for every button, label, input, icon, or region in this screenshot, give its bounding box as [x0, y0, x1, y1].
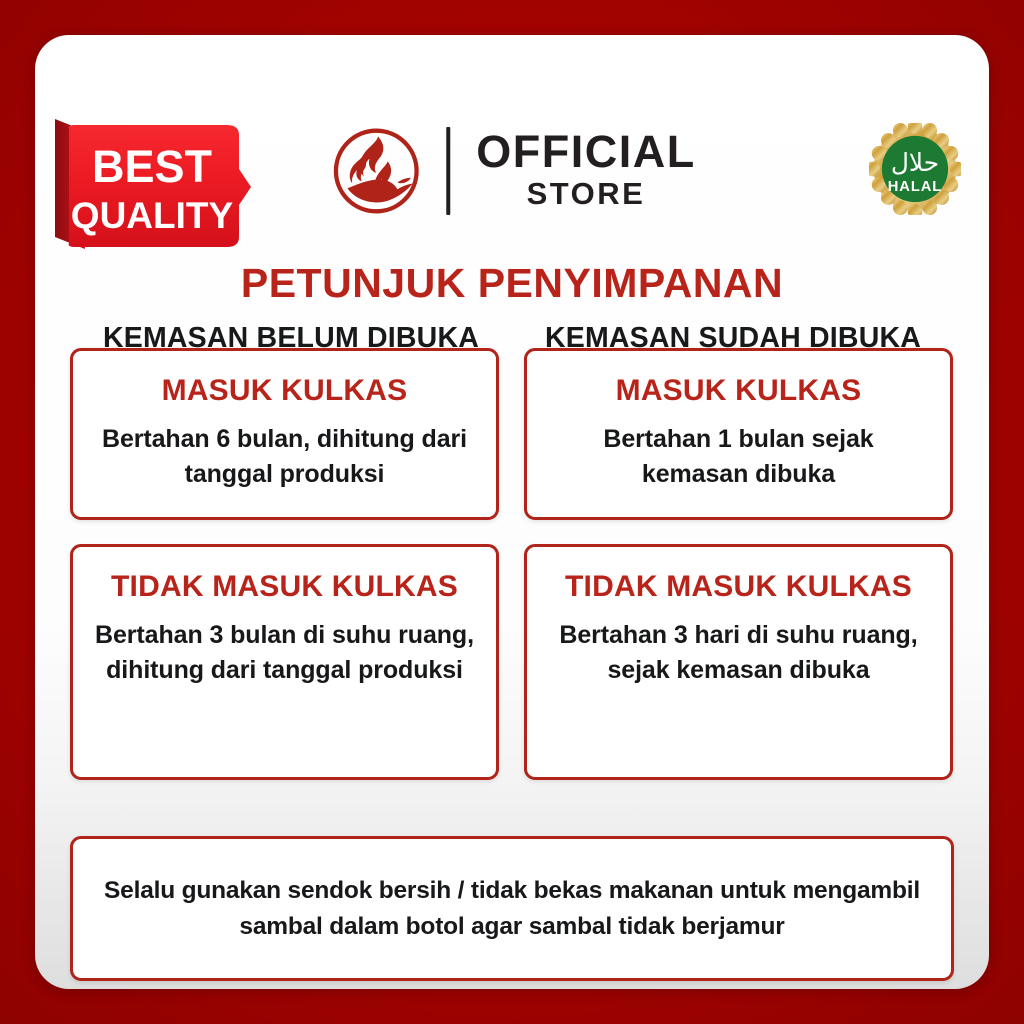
box-title: MASUK KULKAS	[93, 373, 476, 410]
halal-label-text: HALAL	[888, 179, 942, 195]
box-body: Bertahan 3 bulan di suhu ruang, dihitung…	[93, 618, 476, 689]
box-title: TIDAK MASUK KULKAS	[93, 569, 476, 606]
box-body: Bertahan 3 hari di suhu ruang, sejak kem…	[547, 618, 930, 689]
chili-flame-logo-icon	[328, 123, 424, 219]
usage-note-text: Selalu gunakan sendok bersih / tidak bek…	[99, 873, 925, 945]
halal-certification-badge: حلال HALAL	[869, 123, 961, 215]
box-title: MASUK KULKAS	[547, 373, 930, 410]
best-quality-ribbon: BEST QUALITY	[49, 109, 259, 259]
page-title: PETUNJUK PENYIMPANAN	[35, 260, 989, 307]
brand-divider	[446, 127, 450, 215]
brand-store-text: STORE	[476, 175, 695, 214]
brand-lockup: OFFICIAL STORE	[328, 123, 695, 219]
ribbon-line1: BEST	[92, 141, 212, 192]
storage-box-unopened-room: TIDAK MASUK KULKAS Bertahan 3 bulan di s…	[70, 544, 499, 780]
box-body: Bertahan 1 bulan sejak kemasan dibuka	[547, 422, 930, 493]
storage-boxes-grid: MASUK KULKAS Bertahan 6 bulan, dihitung …	[70, 348, 954, 780]
box-title: TIDAK MASUK KULKAS	[547, 569, 930, 606]
box-body: Bertahan 6 bulan, dihitung dari tanggal …	[93, 422, 476, 493]
storage-box-unopened-fridge: MASUK KULKAS Bertahan 6 bulan, dihitung …	[70, 348, 499, 520]
storage-box-opened-room: TIDAK MASUK KULKAS Bertahan 3 hari di su…	[524, 544, 953, 780]
storage-instructions-card: BEST QUALITY OFFICIAL STORE	[35, 35, 989, 989]
brand-wordmark: OFFICIAL STORE	[476, 129, 695, 214]
ribbon-line2: QUALITY	[71, 195, 234, 236]
brand-official-text: OFFICIAL	[476, 129, 695, 175]
storage-box-opened-fridge: MASUK KULKAS Bertahan 1 bulan sejak kema…	[524, 348, 953, 520]
usage-note-box: Selalu gunakan sendok bersih / tidak bek…	[70, 836, 954, 981]
halal-arabic-text: حلال	[891, 148, 939, 177]
